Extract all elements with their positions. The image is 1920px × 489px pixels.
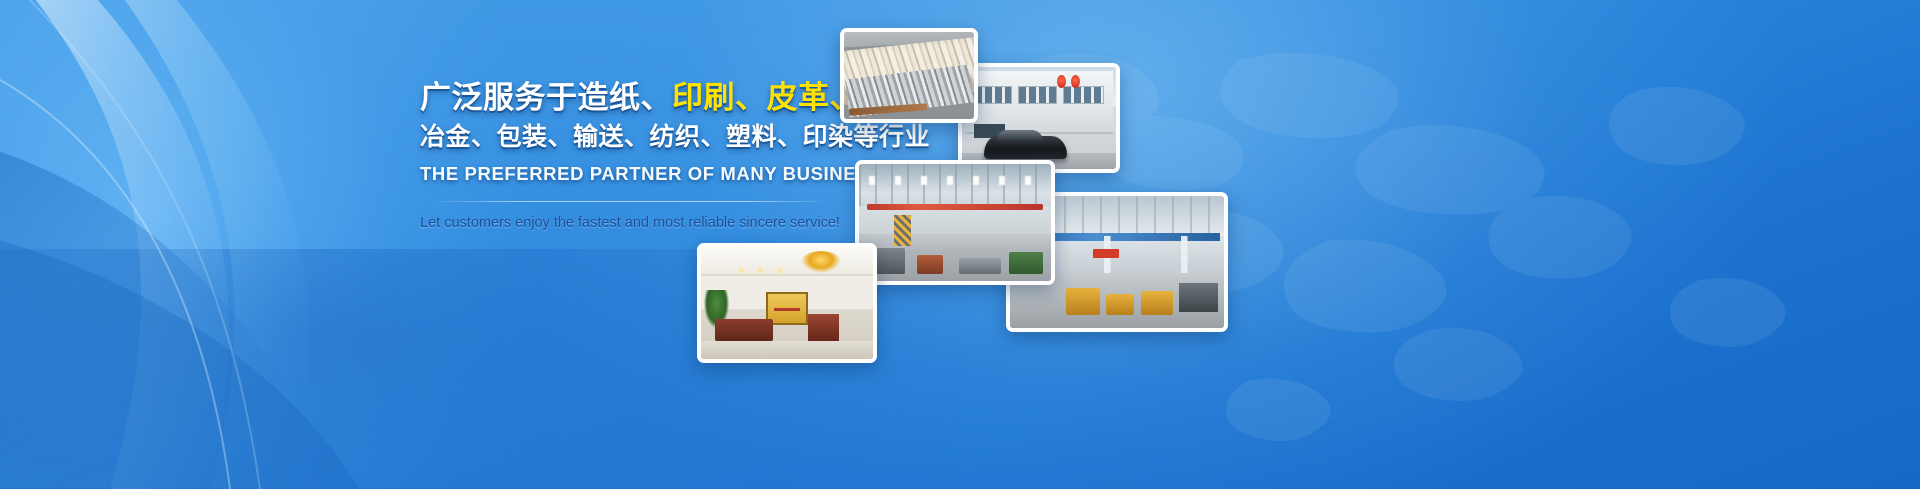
window-row-3 (1063, 86, 1104, 104)
scissor-lift (894, 215, 911, 245)
lobby-ceiling (701, 247, 873, 276)
red-crane-beam (867, 204, 1044, 210)
ceiling-spot-3 (777, 268, 782, 273)
wall-sign (1093, 249, 1119, 258)
hall-roof-trusses (859, 164, 1051, 206)
banner-copy: 广泛服务于造纸、印刷、皮革、压延、 冶金、包装、输送、纺织、塑料、印染等行业 T… (420, 78, 840, 231)
divider-rule (430, 201, 830, 202)
photo-paper-rolls-image (844, 32, 974, 119)
photo-workshop-hall (855, 160, 1055, 285)
wooden-cabinet (808, 314, 839, 341)
yellow-crate-3 (1141, 291, 1173, 315)
headline-line-1: 广泛服务于造纸、印刷、皮革、压延、 (420, 78, 840, 118)
tagline-english: THE PREFERRED PARTNER OF MANY BUSINESS E… (420, 163, 840, 185)
photo-workshop-hall-image (859, 164, 1051, 281)
photo-factory-exterior (958, 63, 1120, 173)
lobby-floor (701, 341, 873, 359)
machine-3 (959, 258, 1001, 274)
headline-line-1-plain: 广泛服务于造纸、 (420, 80, 672, 115)
photo-paper-rolls (840, 28, 978, 123)
photo-office-lobby (697, 243, 877, 363)
yellow-crate-2 (1106, 294, 1134, 315)
photo-collage (0, 0, 1920, 489)
reception-desk (715, 319, 773, 341)
photo-factory-exterior-image (962, 67, 1116, 169)
window-row-1 (974, 86, 1012, 104)
machine-4 (1009, 252, 1044, 274)
photo-office-lobby-image (701, 247, 873, 359)
machine-2 (917, 255, 944, 274)
headline-line-2: 冶金、包装、输送、纺织、塑料、印染等行业 (420, 120, 840, 154)
ceiling-lights (859, 176, 1051, 185)
dark-equipment (1179, 283, 1218, 312)
hero-banner: 广泛服务于造纸、印刷、皮革、压延、 冶金、包装、输送、纺织、塑料、印染等行业 T… (0, 0, 1920, 489)
window-row-2 (1018, 86, 1056, 104)
tagline-subtitle: Let customers enjoy the fastest and most… (420, 215, 840, 231)
yellow-crate-1 (1066, 288, 1100, 314)
black-car (984, 136, 1067, 158)
